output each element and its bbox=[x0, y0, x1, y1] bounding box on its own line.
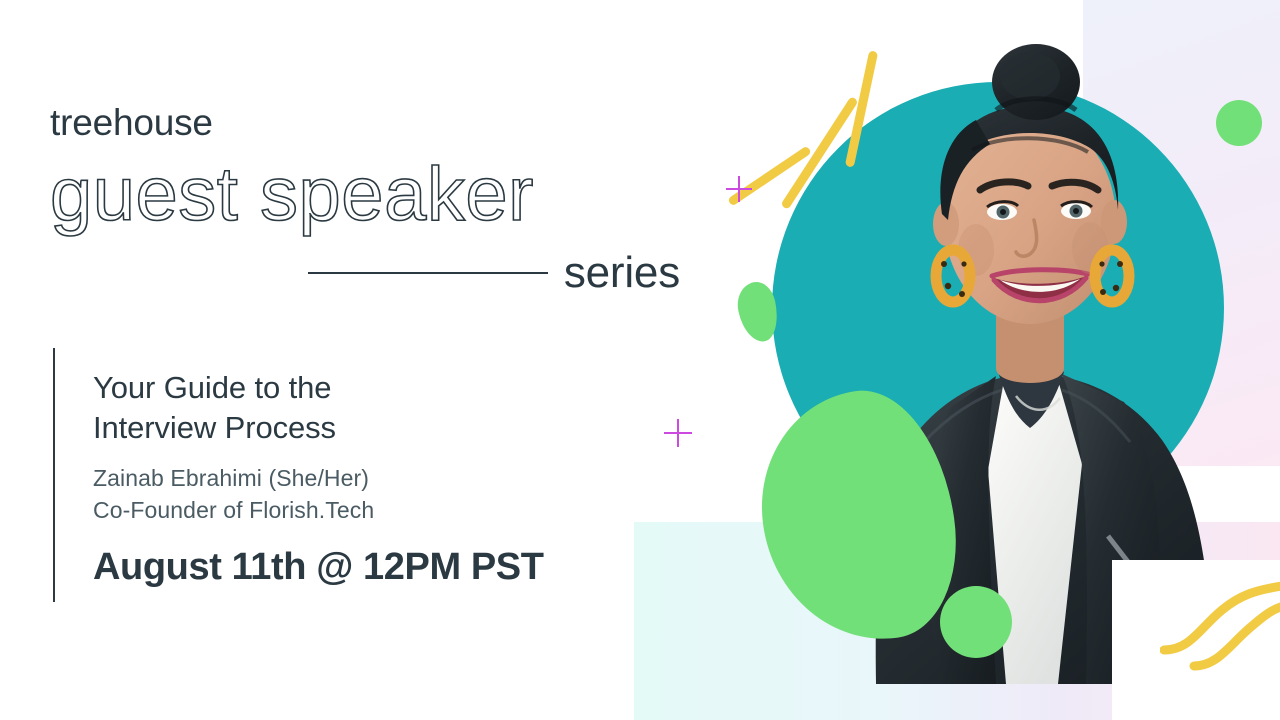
plus-icon bbox=[664, 419, 692, 447]
series-label: series bbox=[564, 251, 680, 295]
plus-icon bbox=[726, 176, 752, 202]
talk-title: Your Guide to the Interview Process bbox=[93, 368, 544, 447]
speaker-role: Co-Founder of Florish.Tech bbox=[93, 495, 544, 527]
treehouse-wordmark: treehouse bbox=[50, 104, 680, 141]
brand-block: treehouse guest speaker series bbox=[50, 104, 680, 295]
squiggle-lines-icon bbox=[1160, 570, 1280, 680]
event-details: Your Guide to the Interview Process Zain… bbox=[53, 348, 544, 602]
speaker-name: Zainab Ebrahimi (She/Her) bbox=[93, 463, 544, 495]
series-divider-rule bbox=[308, 272, 548, 274]
green-circle-icon bbox=[940, 586, 1012, 658]
promo-graphic: treehouse guest speaker series Your Guid… bbox=[0, 0, 1280, 720]
series-row: series bbox=[308, 251, 680, 295]
guest-speaker-headline: guest speaker bbox=[50, 157, 680, 233]
details-body: Your Guide to the Interview Process Zain… bbox=[55, 348, 544, 602]
event-datetime: August 11th @ 12PM PST bbox=[93, 547, 544, 589]
